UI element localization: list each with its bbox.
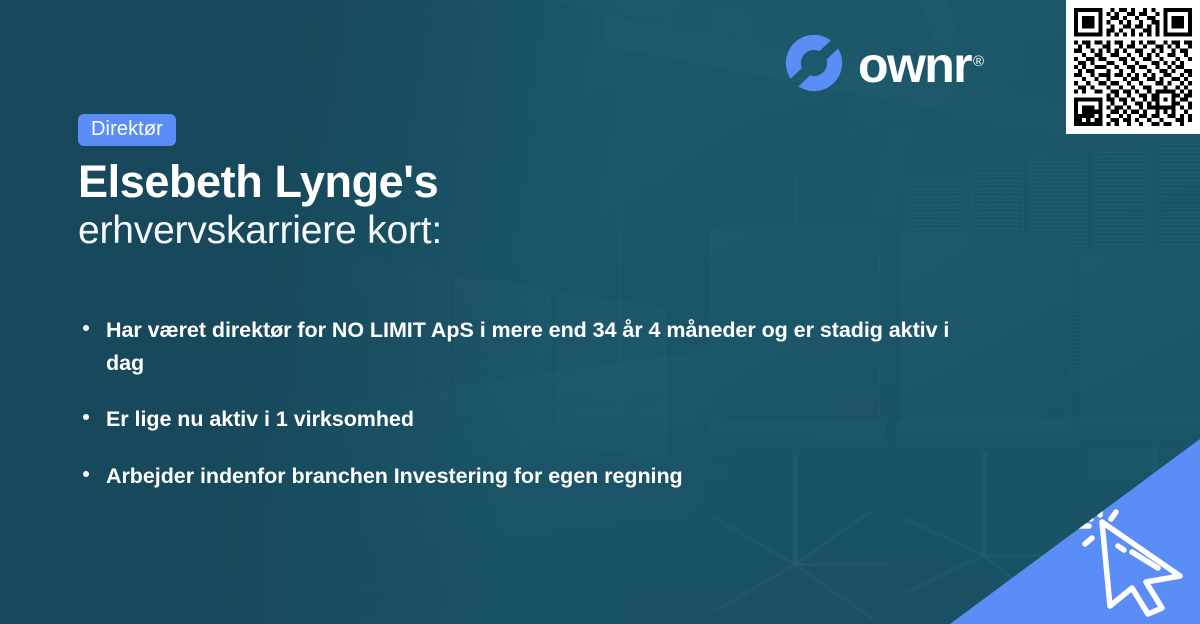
bullet-dot-icon (83, 325, 89, 331)
ownr-logo: ownr® (783, 32, 981, 94)
list-item: Har været direktør for NO LIMIT ApS i me… (78, 314, 978, 379)
career-summary-card: Direktør Elsebeth Lynge's erhvervskarrie… (0, 0, 1200, 624)
career-facts-list: Har været direktør for NO LIMIT ApS i me… (78, 314, 978, 517)
qr-code-icon[interactable] (1074, 8, 1192, 126)
ownr-wordmark-text: ownr (858, 37, 971, 93)
card-content: Direktør Elsebeth Lynge's erhvervskarrie… (0, 0, 1200, 624)
page-title-line1: Elsebeth Lynge's (78, 158, 438, 205)
registered-trademark-icon: ® (973, 53, 982, 70)
page-title-line2: erhvervskarriere kort: (78, 210, 442, 253)
ownr-circle-swirl-icon (783, 32, 845, 94)
list-item: Er lige nu aktiv i 1 virksomhed (78, 403, 978, 436)
list-item: Arbejder indenfor branchen Investering f… (78, 460, 978, 493)
ownr-wordmark: ownr® (858, 40, 981, 90)
decorative-corner-triangle (950, 439, 1200, 624)
bullet-dot-icon (83, 471, 89, 477)
qr-code-panel[interactable] (1066, 0, 1200, 134)
bullet-dot-icon (83, 414, 89, 420)
click-cursor-icon (1076, 500, 1196, 618)
list-item-label: Har været direktør for NO LIMIT ApS i me… (106, 318, 949, 375)
list-item-label: Er lige nu aktiv i 1 virksomhed (106, 407, 414, 431)
list-item-label: Arbejder indenfor branchen Investering f… (106, 464, 683, 488)
role-badge: Direktør (78, 114, 176, 146)
